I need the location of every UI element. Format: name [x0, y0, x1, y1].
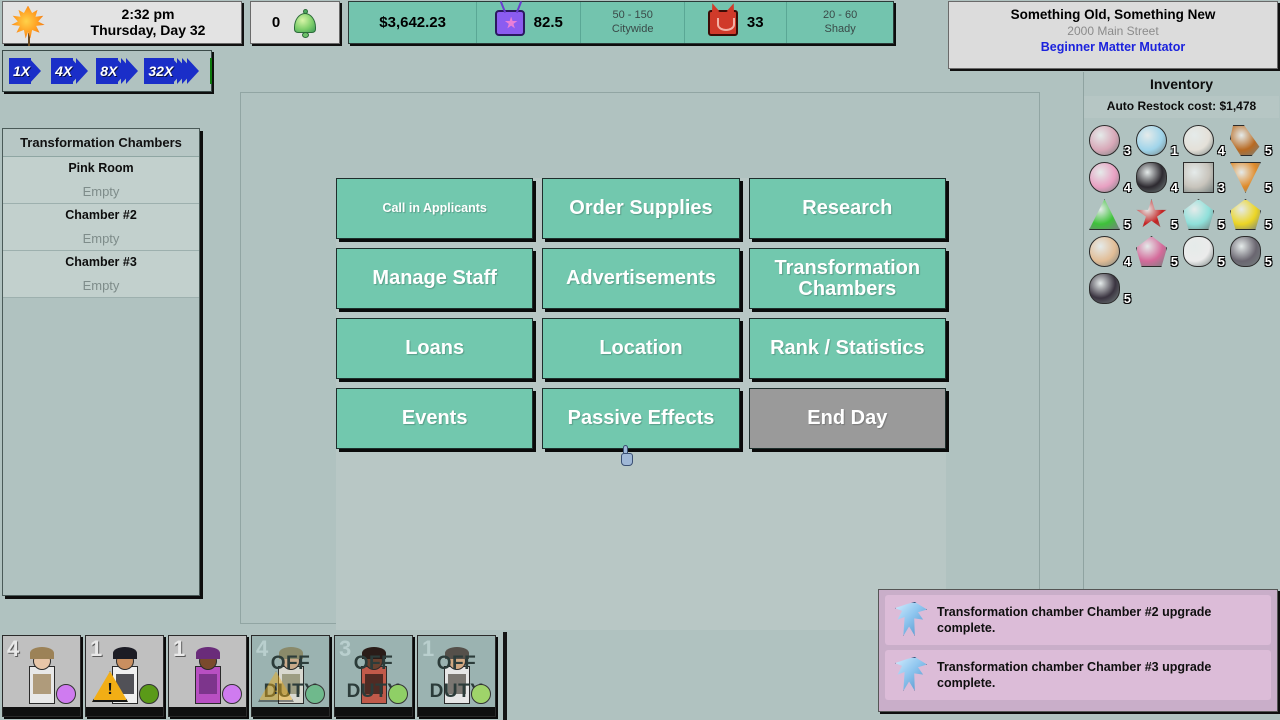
- rank-statistics-button[interactable]: Rank / Statistics: [749, 318, 946, 379]
- staff-card[interactable]: 4: [2, 635, 81, 717]
- call-in-applicants-button[interactable]: Call in Applicants: [336, 178, 533, 239]
- research-button[interactable]: Research: [749, 178, 946, 239]
- action-button-grid: Call in ApplicantsOrder SuppliesResearch…: [336, 178, 946, 630]
- money-stat: $3,642.23: [349, 2, 477, 43]
- notoriety-range-cell: 20 - 60 Shady: [787, 2, 893, 43]
- inventory-quantity: 3: [1218, 180, 1225, 195]
- game-speed-controls: 1X 4X 8X 32X: [2, 50, 212, 92]
- crystal-arrow-icon: [893, 601, 929, 639]
- chambers-panel-title: Transformation Chambers: [3, 129, 199, 157]
- business-address: 2000 Main Street: [949, 24, 1277, 38]
- staff-number: 1: [90, 636, 102, 662]
- chambers-list: Pink RoomEmptyChamber #2EmptyChamber #3E…: [3, 157, 199, 298]
- clock-text: 2:32 pm Thursday, Day 32: [55, 7, 241, 38]
- button-row: EventsPassive EffectsEnd Day: [336, 388, 946, 449]
- staff-roster-bar: 4114OFFDUTY3OFFDUTY1OFFDUTY: [0, 632, 505, 720]
- staff-energy-bar: [86, 707, 163, 716]
- inventory-slot[interactable]: 4: [1182, 122, 1229, 159]
- inventory-grid: 31454435555545555: [1084, 118, 1279, 307]
- business-rank: Beginner Matter Mutator: [949, 40, 1277, 54]
- dark-capsule-icon: [1089, 273, 1120, 304]
- staff-card[interactable]: 1: [85, 635, 164, 717]
- speed-button-8x[interactable]: 8X: [96, 58, 138, 84]
- maple-leaf-icon: [3, 3, 55, 43]
- inventory-slot[interactable]: 5: [1088, 270, 1135, 307]
- inventory-slot[interactable]: 4: [1088, 159, 1135, 196]
- inventory-slot[interactable]: 5: [1229, 159, 1276, 196]
- chamber-state: Empty: [3, 227, 199, 250]
- speed-label-8x: 8X: [99, 63, 118, 79]
- blue-mars-orb-icon: [1136, 125, 1167, 156]
- inventory-slot[interactable]: 5: [1229, 196, 1276, 233]
- inventory-quantity: 5: [1265, 180, 1272, 195]
- staff-status-dot: [305, 684, 325, 704]
- inventory-quantity: 4: [1171, 180, 1178, 195]
- chamber-state: Empty: [3, 180, 199, 203]
- button-row: LoansLocationRank / Statistics: [336, 318, 946, 379]
- inventory-slot[interactable]: 3: [1182, 159, 1229, 196]
- inventory-quantity: 5: [1265, 217, 1272, 232]
- location-button[interactable]: Location: [542, 318, 739, 379]
- inventory-quantity: 5: [1218, 254, 1225, 269]
- crystal-arrow-icon: [893, 656, 929, 694]
- inventory-quantity: 5: [1171, 217, 1178, 232]
- inventory-quantity: 4: [1218, 143, 1225, 158]
- inventory-slot[interactable]: 5: [1088, 196, 1135, 233]
- inventory-slot[interactable]: 5: [1229, 233, 1276, 270]
- reputation-stat: 82.5: [477, 2, 581, 43]
- inventory-panel: Inventory Auto Restock cost: $1,478 3145…: [1083, 72, 1279, 624]
- bell-icon: [292, 8, 318, 38]
- manage-staff-button[interactable]: Manage Staff: [336, 248, 533, 309]
- framed-picture-icon: [1183, 162, 1214, 193]
- transformation-chambers-sidebar: Transformation Chambers Pink RoomEmptyCh…: [2, 128, 200, 596]
- green-triangle-gem-icon: [1089, 199, 1120, 230]
- clock-panel: 2:32 pm Thursday, Day 32: [2, 1, 242, 44]
- speed-label-4x: 4X: [54, 63, 73, 79]
- grey-capsule-icon: [1230, 236, 1261, 267]
- speed-button-4x[interactable]: 4X: [51, 58, 88, 84]
- inventory-quantity: 5: [1218, 217, 1225, 232]
- inventory-slot[interactable]: 5: [1135, 233, 1182, 270]
- speed-label-1x: 1X: [12, 63, 31, 79]
- business-info-panel: Something Old, Something New 2000 Main S…: [948, 1, 1278, 69]
- main-content-panel: Call in ApplicantsOrder SuppliesResearch…: [240, 92, 1040, 624]
- passive-effects-button[interactable]: Passive Effects: [542, 388, 739, 449]
- reputation-value: 82.5: [534, 14, 563, 31]
- pink-hourglass-icon: [1136, 236, 1167, 267]
- staff-bar-edge: [503, 632, 507, 720]
- advertisements-button[interactable]: Advertisements: [542, 248, 739, 309]
- inventory-title: Inventory: [1084, 72, 1279, 96]
- staff-status-dot: [139, 684, 159, 704]
- inventory-quantity: 3: [1124, 143, 1131, 158]
- inventory-quantity: 5: [1265, 143, 1272, 158]
- tv-icon: [495, 10, 525, 36]
- staff-card[interactable]: 1: [168, 635, 247, 717]
- staff-energy-bar: [169, 707, 246, 716]
- notification-text: Transformation chamber Chamber #2 upgrad…: [937, 604, 1263, 637]
- staff-energy-bar: [3, 707, 80, 716]
- staff-status-dot: [388, 684, 408, 704]
- end-day-button[interactable]: End Day: [749, 388, 946, 449]
- reputation-range: 50 - 150: [612, 9, 654, 22]
- chamber-row[interactable]: Chamber #3Empty: [3, 251, 199, 298]
- staff-status-dot: [56, 684, 76, 704]
- staff-energy-bar: [335, 707, 412, 716]
- resource-stats-bar: $3,642.23 82.5 50 - 150 Citywide 33 20 -…: [348, 1, 894, 44]
- notification-bell-panel[interactable]: 0: [250, 1, 340, 44]
- staff-energy-bar: [418, 707, 495, 716]
- loans-button[interactable]: Loans: [336, 318, 533, 379]
- staff-energy-bar: [252, 707, 329, 716]
- orange-triangle-icon: [1230, 162, 1261, 193]
- notoriety-range: 20 - 60: [823, 9, 857, 22]
- notification-toast-panel: Transformation chamber Chamber #2 upgrad…: [878, 589, 1278, 712]
- clock-date: Thursday, Day 32: [55, 23, 241, 39]
- staff-number: 1: [173, 636, 185, 662]
- chamber-row[interactable]: Chamber #2Empty: [3, 204, 199, 251]
- reputation-scope: Citywide: [612, 23, 654, 36]
- notification-toast[interactable]: Transformation chamber Chamber #2 upgrad…: [885, 595, 1271, 645]
- inventory-slot[interactable]: 1: [1135, 122, 1182, 159]
- speed-button-32x[interactable]: 32X: [144, 58, 199, 84]
- business-name: Something Old, Something New: [949, 7, 1277, 22]
- notoriety-stat: 33: [685, 2, 787, 43]
- white-capsule-icon: [1183, 236, 1214, 267]
- inventory-slot[interactable]: 5: [1182, 196, 1229, 233]
- inventory-slot[interactable]: 5: [1135, 196, 1182, 233]
- inventory-quantity: 4: [1124, 180, 1131, 195]
- red-sun-icon: [1136, 199, 1167, 230]
- auto-restock-cost: Auto Restock cost: $1,478: [1084, 96, 1279, 118]
- inventory-slot[interactable]: 3: [1088, 122, 1135, 159]
- pink-bulb-icon: [1089, 162, 1120, 193]
- staff-card[interactable]: 4OFFDUTY: [251, 635, 330, 717]
- speed-label-32x: 32X: [147, 63, 174, 79]
- events-button[interactable]: Events: [336, 388, 533, 449]
- inventory-quantity: 1: [1171, 143, 1178, 158]
- speed-running-indicator[interactable]: [210, 58, 212, 84]
- clock-time: 2:32 pm: [55, 7, 241, 23]
- staff-status-dot: [471, 684, 491, 704]
- notoriety-value: 33: [747, 14, 764, 31]
- chamber-row[interactable]: Pink RoomEmpty: [3, 157, 199, 204]
- white-venus-orb-icon: [1183, 125, 1214, 156]
- notification-toast[interactable]: Transformation chamber Chamber #3 upgrad…: [885, 650, 1271, 700]
- order-supplies-button[interactable]: Order Supplies: [542, 178, 739, 239]
- inventory-slot[interactable]: 4: [1088, 233, 1135, 270]
- reputation-range-cell: 50 - 150 Citywide: [581, 2, 685, 43]
- staff-card[interactable]: 1OFFDUTY: [417, 635, 496, 717]
- inventory-quantity: 5: [1124, 291, 1131, 306]
- chamber-name: Pink Room: [3, 157, 199, 180]
- inventory-quantity: 5: [1171, 254, 1178, 269]
- button-row: Call in ApplicantsOrder SuppliesResearch: [336, 178, 946, 239]
- staff-card[interactable]: 3OFFDUTY: [334, 635, 413, 717]
- notoriety-scope: Shady: [823, 23, 857, 36]
- chamber-name: Chamber #2: [3, 204, 199, 227]
- staff-status-dot: [222, 684, 242, 704]
- bell-count: 0: [272, 14, 280, 31]
- pink-orb-sprout-icon: [1089, 125, 1120, 156]
- transformation-chambers-button[interactable]: Transformation Chambers: [749, 248, 946, 309]
- inventory-quantity: 5: [1124, 217, 1131, 232]
- chamber-state: Empty: [3, 274, 199, 297]
- money-value: $3,642.23: [379, 14, 446, 31]
- inventory-slot[interactable]: 4: [1135, 159, 1182, 196]
- notification-text: Transformation chamber Chamber #3 upgrad…: [937, 659, 1263, 692]
- inventory-quantity: 5: [1265, 254, 1272, 269]
- devil-icon: [708, 10, 738, 36]
- hand-orb-icon: [1089, 236, 1120, 267]
- dark-pill-icon: [1136, 162, 1167, 193]
- button-row: Manage StaffAdvertisementsTransformation…: [336, 248, 946, 309]
- inventory-slot[interactable]: 5: [1229, 122, 1276, 159]
- staff-number: 4: [7, 636, 19, 662]
- inventory-slot[interactable]: 5: [1182, 233, 1229, 270]
- bronze-claw-icon: [1230, 125, 1261, 156]
- yellow-amulet-icon: [1230, 199, 1261, 230]
- inventory-quantity: 4: [1124, 254, 1131, 269]
- speed-button-1x[interactable]: 1X: [9, 58, 41, 84]
- chamber-name: Chamber #3: [3, 251, 199, 274]
- teal-vial-icon: [1183, 199, 1214, 230]
